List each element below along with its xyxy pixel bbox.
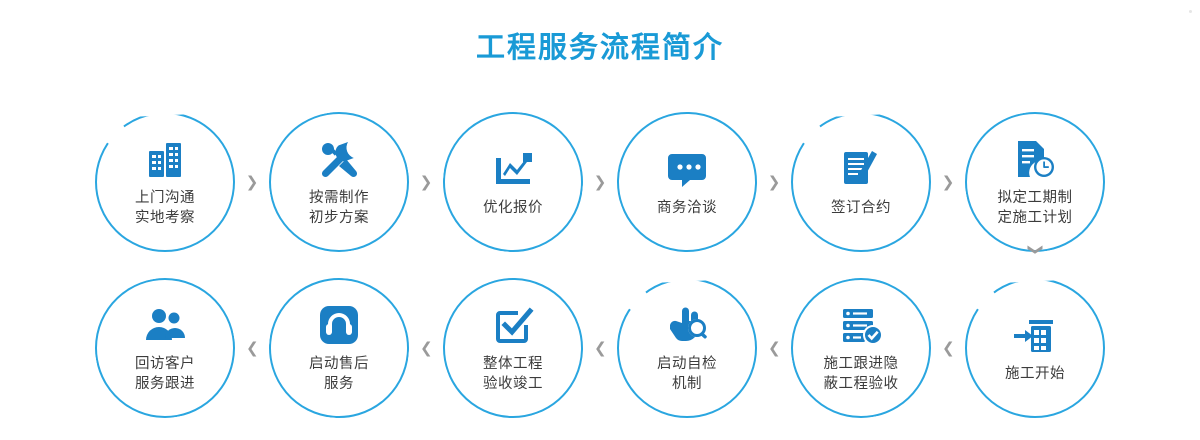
flow-arrow-right: ❯ [586,109,614,255]
flow-node-headset-support[interactable]: 启动售后 服务 [266,275,412,421]
flow-node-chat-bubble[interactable]: 商务洽谈 [614,109,760,255]
flow-arrow-left: ❯ [412,275,440,421]
node-content: 施工开始 [970,312,1100,384]
flow-arrow-right: ❯ [760,109,788,255]
node-label: 商务洽谈 [657,198,717,218]
arrow-glyph: ❯ [768,341,781,356]
flow-node-calendar-start[interactable]: 施工开始 [962,275,1108,421]
flow-arrow-right: ❯ [934,109,962,255]
node-content: 优化报价 [448,146,578,218]
flow-node-chart-down[interactable]: 优化报价 [440,109,586,255]
node-content: 商务洽谈 [622,146,752,218]
flow-arrow-left: ❯ [238,275,266,421]
arrow-glyph: ❯ [246,175,259,190]
arrow-glyph: ❯ [246,341,259,356]
flow-arrow-left: ❯ [934,275,962,421]
node-content: 回访客户 服务跟进 [100,302,230,394]
flow-arrow-right: ❯ [238,109,266,255]
node-content: 上门沟通 实地考察 [100,136,230,228]
flow-node-checkbox-accept[interactable]: 整体工程 验收竣工 [440,275,586,421]
corner-dot [1189,10,1192,13]
users-followup-icon [142,302,188,348]
arrow-glyph: ❯ [942,341,955,356]
flow-arrow-right: ❯ [412,109,440,255]
node-label: 优化报价 [483,198,543,218]
chat-bubble-icon [664,146,710,192]
flow-node-building[interactable]: 上门沟通 实地考察 [92,109,238,255]
page-title: 工程服务流程简介 [0,24,1200,66]
headset-support-icon [317,302,361,348]
arrow-glyph: ❯ [768,175,781,190]
node-label: 启动自检 机制 [657,354,717,394]
node-content: 启动自检 机制 [622,302,752,394]
flow-node-server-check[interactable]: 施工跟进隐 蔽工程验收 [788,275,934,421]
node-label: 整体工程 验收竣工 [483,354,543,394]
node-label: 签订合约 [831,198,891,218]
flow-arrow-left: ❯ [760,275,788,421]
node-label: 拟定工期制 定施工计划 [998,188,1073,228]
server-check-icon [838,302,884,348]
node-content: 启动售后 服务 [274,302,404,394]
arrow-glyph: ❯ [594,341,607,356]
node-label: 回访客户 服务跟进 [135,354,195,394]
row-connector-down-arrow: ❯ [1015,232,1055,266]
building-icon [143,136,187,182]
node-label: 施工跟进隐 蔽工程验收 [824,354,899,394]
contract-pen-icon [839,146,883,192]
schedule-clock-icon [1013,136,1057,182]
calendar-start-icon [1012,312,1058,358]
arrow-glyph: ❯ [942,175,955,190]
down-arrow-glyph: ❯ [1027,243,1042,256]
node-content: 按需制作 初步方案 [274,136,404,228]
arrow-glyph: ❯ [420,341,433,356]
node-label: 施工开始 [1005,364,1065,384]
flow-node-hand-inspect[interactable]: 启动自检 机制 [614,275,760,421]
checkbox-accept-icon [491,302,535,348]
flow-row-2: 回访客户 服务跟进❯启动售后 服务❯整体工程 验收竣工❯启动自检 机制❯施工跟进… [0,258,1200,438]
arrow-glyph: ❯ [594,175,607,190]
node-label: 启动售后 服务 [309,354,369,394]
flow-arrow-left: ❯ [586,275,614,421]
hand-inspect-icon [664,302,710,348]
flow-node-contract-pen[interactable]: 签订合约 [788,109,934,255]
node-content: 施工跟进隐 蔽工程验收 [796,302,926,394]
arrow-glyph: ❯ [420,175,433,190]
flow-node-users-followup[interactable]: 回访客户 服务跟进 [92,275,238,421]
flow-node-tools[interactable]: 按需制作 初步方案 [266,109,412,255]
chart-down-icon [490,146,536,192]
node-content: 拟定工期制 定施工计划 [970,136,1100,228]
tools-icon [316,136,362,182]
node-content: 整体工程 验收竣工 [448,302,578,394]
node-label: 按需制作 初步方案 [309,188,369,228]
node-content: 签订合约 [796,146,926,218]
node-label: 上门沟通 实地考察 [135,188,195,228]
